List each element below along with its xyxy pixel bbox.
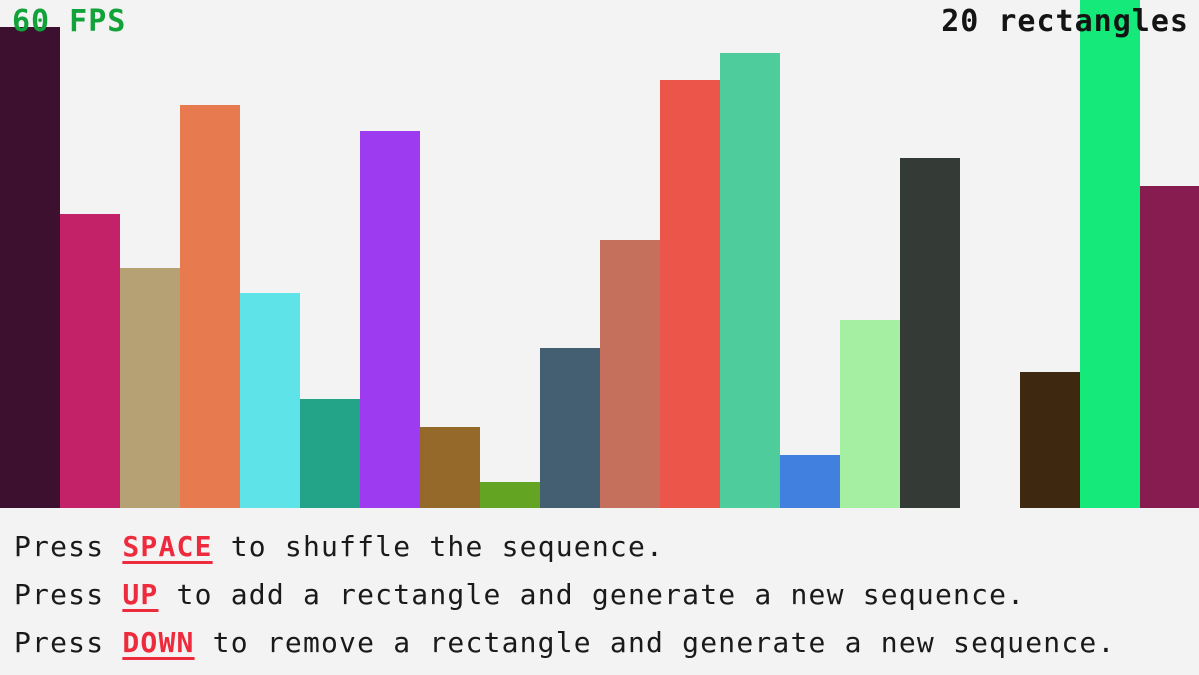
chart-bar — [120, 268, 180, 508]
instruction-line: Press SPACE to shuffle the sequence. — [14, 523, 1199, 571]
chart-bar — [1140, 186, 1199, 508]
chart-bar — [540, 348, 600, 508]
chart-bar — [1080, 0, 1140, 508]
chart-bar — [840, 320, 900, 508]
chart-bar — [780, 455, 840, 508]
rectangle-sequence-chart[interactable] — [0, 0, 1199, 508]
chart-bar — [60, 214, 120, 508]
instruction-prefix: Press — [14, 530, 122, 563]
keyboard-key-up[interactable]: UP — [122, 578, 158, 611]
chart-bar — [300, 399, 360, 508]
chart-bar — [420, 427, 480, 508]
chart-bar — [240, 293, 300, 508]
chart-bar — [900, 158, 960, 508]
instruction-line: Press DOWN to remove a rectangle and gen… — [14, 619, 1199, 667]
instruction-prefix: Press — [14, 626, 122, 659]
keyboard-key-space[interactable]: SPACE — [122, 530, 212, 563]
instruction-suffix: to shuffle the sequence. — [213, 530, 664, 563]
rectangle-count-label: 20 rectangles — [941, 7, 1189, 37]
chart-bar — [480, 482, 540, 508]
chart-bar — [600, 240, 660, 508]
chart-bar — [360, 131, 420, 508]
instruction-suffix: to add a rectangle and generate a new se… — [158, 578, 1025, 611]
chart-bar — [0, 27, 60, 508]
chart-bar — [720, 53, 780, 508]
instruction-line: Press UP to add a rectangle and generate… — [14, 571, 1199, 619]
fps-counter: 60 FPS — [12, 7, 126, 37]
instructions-panel: Press SPACE to shuffle the sequence.Pres… — [0, 508, 1199, 675]
app-root: 60 FPS 20 rectangles Press SPACE to shuf… — [0, 0, 1199, 675]
chart-bar — [1020, 372, 1080, 508]
chart-bar — [180, 105, 240, 508]
chart-bar — [660, 80, 720, 508]
instruction-prefix: Press — [14, 578, 122, 611]
instruction-suffix: to remove a rectangle and generate a new… — [195, 626, 1116, 659]
keyboard-key-down[interactable]: DOWN — [122, 626, 194, 659]
